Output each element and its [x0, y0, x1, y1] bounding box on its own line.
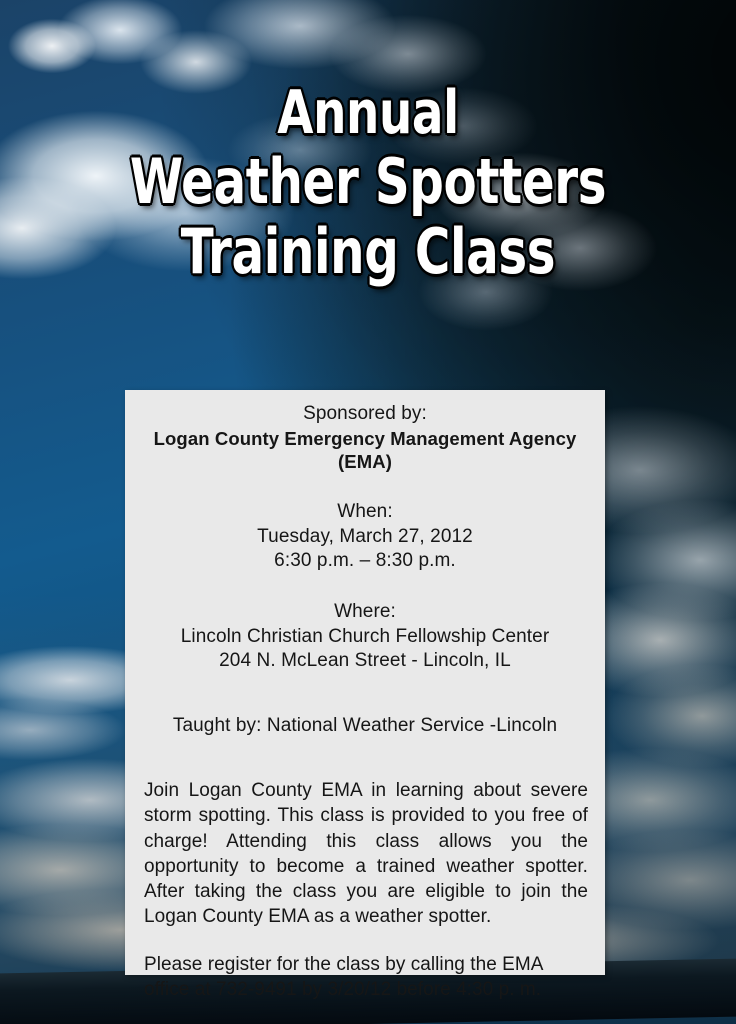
where-venue: Lincoln Christian Church Fellowship Cent… — [139, 625, 591, 650]
when-date: Tuesday, March 27, 2012 — [139, 525, 591, 550]
spacer-after-when — [139, 574, 591, 600]
when-label: When: — [139, 500, 591, 525]
description-paragraph: Join Logan County EMA in learning about … — [139, 778, 591, 930]
sponsor-abbreviation: (EMA) — [139, 450, 591, 474]
sponsored-by-label: Sponsored by: — [139, 402, 591, 427]
where-address: 204 N. McLean Street - Lincoln, IL — [139, 649, 591, 674]
where-label: Where: — [139, 600, 591, 625]
taught-by-line: Taught by: National Weather Service -Lin… — [139, 715, 591, 737]
when-block: When: Tuesday, March 27, 2012 6:30 p.m. … — [139, 500, 591, 574]
registration-paragraph: Please register for the class by calling… — [139, 952, 591, 1003]
sponsor-name: Logan County Emergency Management Agency — [139, 427, 591, 451]
info-panel: Sponsored by: Logan County Emergency Man… — [125, 390, 605, 975]
spacer-after-taught-by — [139, 756, 591, 778]
weather-spotters-flyer: Annual Weather Spotters Training Class S… — [0, 0, 736, 1024]
where-block: Where: Lincoln Christian Church Fellowsh… — [139, 600, 591, 674]
spacer-after-where — [139, 674, 591, 696]
when-time: 6:30 p.m. – 8:30 p.m. — [139, 549, 591, 574]
sponsor-block: Sponsored by: Logan County Emergency Man… — [139, 402, 591, 474]
spacer-after-sponsor — [139, 474, 591, 500]
spacer-after-description — [139, 930, 591, 952]
